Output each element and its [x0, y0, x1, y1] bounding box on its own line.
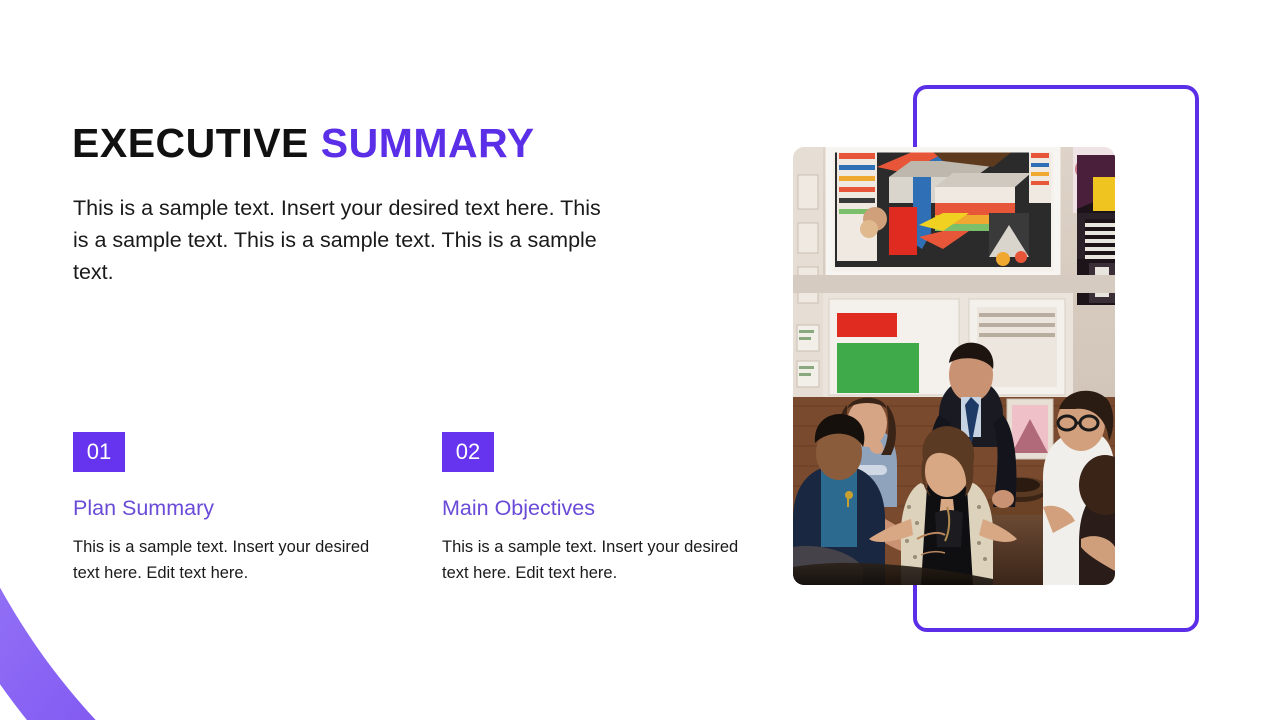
column-body-01: This is a sample text. Insert your desir… [73, 534, 373, 586]
column-heading-02: Main Objectives [442, 496, 747, 522]
page-title: EXECUTIVE SUMMARY [72, 121, 535, 166]
badge-number-01: 01 [73, 432, 125, 472]
title-part-executive: EXECUTIVE [72, 120, 309, 166]
column-02: 02 Main Objectives This is a sample text… [442, 432, 747, 586]
gallery-discussion-photo [793, 147, 1115, 585]
photo-illustration [793, 147, 1115, 585]
numbered-columns: 01 Plan Summary This is a sample text. I… [73, 432, 773, 586]
column-body-02: This is a sample text. Insert your desir… [442, 534, 742, 586]
intro-paragraph: This is a sample text. Insert your desir… [73, 192, 613, 288]
badge-number-02: 02 [442, 432, 494, 472]
slide-canvas: EXECUTIVE SUMMARY This is a sample text.… [0, 0, 1280, 720]
column-heading-01: Plan Summary [73, 496, 378, 522]
title-part-summary: SUMMARY [321, 120, 535, 166]
column-01: 01 Plan Summary This is a sample text. I… [73, 432, 378, 586]
